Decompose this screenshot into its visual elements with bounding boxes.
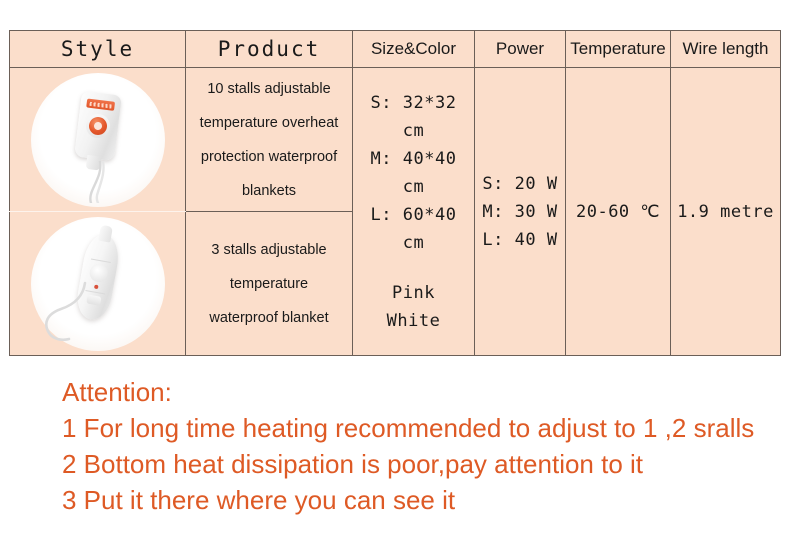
- column-header-product: Product: [186, 31, 353, 68]
- rectangular-controller-icon: [74, 90, 122, 160]
- size-line: L: 60*40: [353, 201, 474, 229]
- column-header-wire-length: Wire length: [671, 31, 781, 68]
- product-photo-2: [31, 217, 165, 351]
- wire-length-cell: 1.9 metre: [671, 68, 781, 356]
- power-line: M: 30 W: [475, 198, 565, 226]
- specification-table: Style Product Size&Color Power Temperatu…: [9, 30, 781, 356]
- power-cord-icon-1: [76, 161, 120, 203]
- product-photo-1: [31, 73, 165, 207]
- column-header-temperature: Temperature: [566, 31, 671, 68]
- power-cord-icon-2: [39, 279, 101, 341]
- power-line: L: 40 W: [475, 226, 565, 254]
- size-line: M: 40*40: [353, 145, 474, 173]
- temperature-cell: 20-60 ℃: [566, 68, 671, 356]
- product-spec-infographic: Style Product Size&Color Power Temperatu…: [0, 0, 790, 543]
- column-header-power: Power: [475, 31, 566, 68]
- product-description-cell-1: 10 stalls adjustable temperature overhea…: [186, 68, 353, 212]
- controller-display-icon: [86, 98, 115, 110]
- attention-item: 3 Put it there where you can see it: [62, 482, 788, 518]
- attention-title: Attention:: [62, 374, 788, 410]
- product-line: blankets: [186, 174, 352, 208]
- style-image-cell-1: [10, 68, 186, 212]
- attention-item: 2 Bottom heat dissipation is poor,pay at…: [62, 446, 788, 482]
- size-color-cell: S: 32*32 cm M: 40*40 cm L: 60*40 cm Pink…: [353, 68, 475, 356]
- column-header-style: Style: [10, 31, 186, 68]
- product-description-cell-2: 3 stalls adjustable temperature waterpro…: [186, 212, 353, 356]
- power-cell: S: 20 W M: 30 W L: 40 W: [475, 68, 566, 356]
- product-line: waterproof blanket: [186, 301, 352, 335]
- style-image-cell-2: [10, 212, 186, 356]
- spacer: [353, 257, 474, 279]
- product-line: temperature overheat: [186, 106, 352, 140]
- product-line: protection waterproof: [186, 140, 352, 174]
- product-line: temperature: [186, 267, 352, 301]
- temperature-value: 20-60 ℃: [566, 198, 670, 226]
- size-unit: cm: [353, 117, 474, 145]
- product-line: 10 stalls adjustable: [186, 72, 352, 106]
- table-header-row: Style Product Size&Color Power Temperatu…: [10, 31, 781, 68]
- controller-tip-icon: [98, 224, 113, 242]
- color-option: Pink: [353, 279, 474, 307]
- wire-length-value: 1.9 metre: [671, 198, 780, 226]
- power-line: S: 20 W: [475, 170, 565, 198]
- attention-notes: Attention: 1 For long time heating recom…: [62, 374, 788, 518]
- attention-item: 1 For long time heating recommended to a…: [62, 410, 788, 446]
- table-row: 10 stalls adjustable temperature overhea…: [10, 68, 781, 212]
- size-line: S: 32*32: [353, 89, 474, 117]
- column-header-size-color: Size&Color: [353, 31, 475, 68]
- product-line: 3 stalls adjustable: [186, 233, 352, 267]
- size-unit: cm: [353, 229, 474, 257]
- size-unit: cm: [353, 173, 474, 201]
- controller-seam-icon: [90, 258, 110, 262]
- color-option: White: [353, 307, 474, 335]
